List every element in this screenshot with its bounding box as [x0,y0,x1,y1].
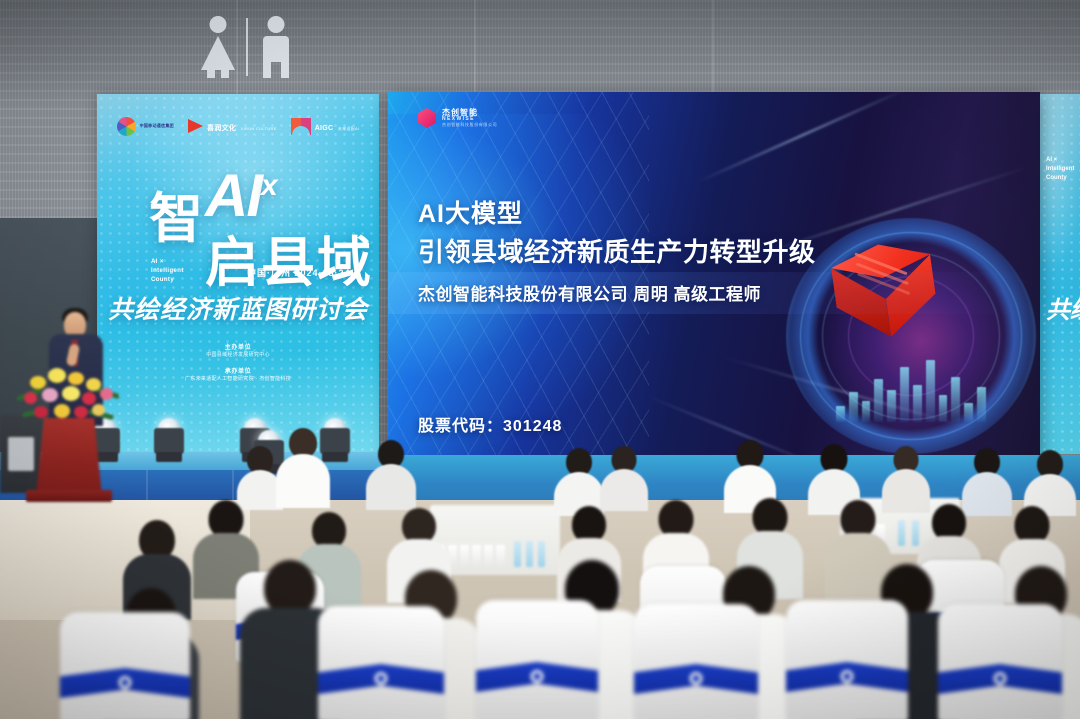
host-label: 主办单位 [97,342,379,351]
audience-chair [318,606,444,719]
conference-photo-scene: 中国移动通信集团 喜润文化 XIRUN CULTURE AIGC 未来适配AI … [0,0,1080,719]
podium [36,418,102,496]
moving-head-stage-light [152,418,186,462]
sponsor-logo-3: AIGC 未来适配AI [291,118,360,135]
right-banner-subtitle-en: AI × Intelligent County [1046,156,1074,183]
sponsor-logo-1: 中国移动通信集团 [117,117,174,136]
podium-base [26,490,112,502]
audience-chair [786,600,908,719]
slide-company-logo: 杰创智能 NEXWISE 杰创智能科技股份有限公司 [418,108,497,128]
banner-hero-cn1: 智 [149,192,203,246]
audience-chair [60,612,190,719]
banner-sponsor-logos: 中国移动通信集团 喜润文化 XIRUN CULTURE AIGC 未来适配AI [97,117,379,136]
audience-chair [476,600,598,719]
banner-subtitle-en: AI × Intelligent County [151,258,184,285]
left-event-banner: 中国移动通信集团 喜润文化 XIRUN CULTURE AIGC 未来适配AI … [97,94,379,454]
sponsor-2-en: XIRUN CULTURE [241,126,277,131]
sponsor-2-cn: 喜润文化 [207,125,236,132]
slide-heading-secondary: 引领县域经济新质生产力转型升级 [418,232,816,269]
banner-theme: 共绘经济新蓝图研讨会 [97,290,379,326]
slide-logo-sub: 杰创智能科技股份有限公司 [442,123,497,128]
nexwise-cube-icon [418,108,436,128]
audience-member [1026,450,1074,512]
slide-heading-primary: AI大模型 [418,194,523,230]
audience-member [602,446,646,508]
audience-member [556,448,602,512]
pink-arch-logo-icon [291,118,311,135]
audience-member [884,446,928,510]
banner-hero-ai: AIx [205,166,276,226]
banner-hero-cn2: 启县域 [205,236,373,290]
red-flag-logo-icon [188,119,203,133]
slide-presenter-line: 杰创智能科技股份有限公司 周明 高级工程师 [418,280,761,305]
audience-chair [938,604,1062,719]
slide-stock-code: 股票代码：301248 [418,412,562,436]
support-value: 广东未来适配人工智能研究院 · 杰创智能科技 [97,375,379,382]
banner-place-date: 中国·广州 2024·08·24 [247,266,351,279]
host-value: 中国县域经济发展研究中心 [97,351,379,358]
support-label: 承办单位 [97,366,379,375]
male-restroom-icon [254,16,298,78]
swirl-bar-chart [836,360,986,422]
audience-chair [634,604,758,719]
sponsor-logo-2: 喜润文化 XIRUN CULTURE [188,118,277,135]
sign-divider [246,18,248,76]
female-restroom-icon [196,16,240,78]
right-banner-theme: 共绘 [1046,290,1080,325]
audience-member [964,448,1010,512]
led-presentation-screen: 杰创智能 NEXWISE 杰创智能科技股份有限公司 AI大模型 引领县域经济新质… [388,92,1040,460]
podium-and-speaker [16,300,126,515]
audience-member [278,428,328,506]
rainbow-flower-logo-icon [117,117,136,136]
sponsor-1-cn: 中国移动通信集团 [140,124,174,128]
right-event-banner: AI × Intelligent County 共绘 [1040,94,1080,454]
restroom-signage [196,16,300,78]
audience-member [368,440,414,508]
sponsor-3-cn: AIGC [315,125,334,132]
banner-organizers: 主办单位 中国县域经济发展研究中心 承办单位 广东未来适配人工智能研究院 · 杰… [97,342,379,390]
sponsor-3-en: 未来适配AI [338,126,360,131]
